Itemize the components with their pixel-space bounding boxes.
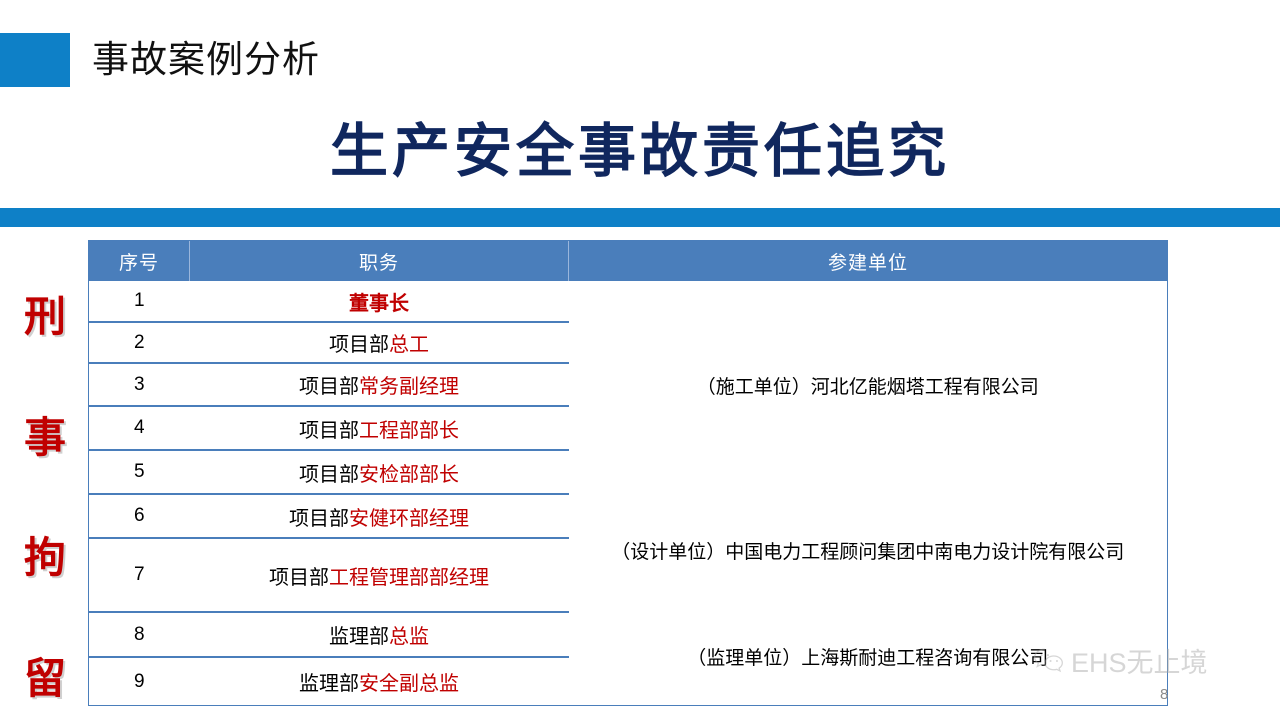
post-prefix: 项目部 bbox=[299, 464, 359, 486]
side-label-char-0: 刑 bbox=[24, 296, 66, 338]
post-prefix: 项目部 bbox=[299, 376, 359, 398]
column-header-no: 序号 bbox=[89, 241, 190, 281]
post-prefix: 监理部 bbox=[329, 626, 389, 648]
page-number: 8 bbox=[1160, 686, 1168, 703]
cell-no: 3 bbox=[89, 363, 190, 406]
post-highlight: 安检部部长 bbox=[359, 464, 459, 486]
side-label-criminal-detention: 刑 事 拘 留 bbox=[14, 296, 76, 700]
cell-post: 监理部总监 bbox=[190, 612, 569, 657]
table-row: 1 董事长 （施工单位）河北亿能烟塔工程有限公司 bbox=[89, 281, 1167, 322]
side-label-char-2: 拘 bbox=[24, 537, 66, 579]
cell-no: 8 bbox=[89, 612, 190, 657]
cell-post: 监理部安全副总监 bbox=[190, 657, 569, 705]
cell-unit-supervision: （监理单位）上海斯耐迪工程咨询有限公司 bbox=[569, 612, 1168, 705]
page-title: 生产安全事故责任追究 bbox=[0, 104, 1280, 188]
cell-post: 项目部总工 bbox=[190, 322, 569, 363]
post-highlight: 安健环部经理 bbox=[349, 508, 469, 530]
cell-no: 4 bbox=[89, 406, 190, 450]
cell-unit-design: （设计单位）中国电力工程顾问集团中南电力设计院有限公司 bbox=[569, 494, 1168, 612]
post-highlight: 常务副经理 bbox=[359, 376, 459, 398]
cell-unit-construction: （施工单位）河北亿能烟塔工程有限公司 bbox=[569, 281, 1168, 494]
responsibility-table: 序号 职务 参建单位 1 董事长 （施工单位）河北亿能烟塔工程有限公司 2 项目… bbox=[88, 240, 1168, 706]
header-accent-block bbox=[0, 33, 70, 87]
cell-post: 项目部工程部部长 bbox=[190, 406, 569, 450]
post-prefix: 项目部 bbox=[269, 567, 329, 589]
post-highlight: 安全副总监 bbox=[359, 673, 459, 695]
slide-header: 事故案例分析 bbox=[0, 32, 320, 88]
cell-post: 项目部常务副经理 bbox=[190, 363, 569, 406]
header-kicker: 事故案例分析 bbox=[92, 41, 320, 80]
cell-no: 6 bbox=[89, 494, 190, 538]
post-highlight: 工程管理部部经理 bbox=[329, 567, 489, 589]
post-highlight: 董事长 bbox=[349, 293, 409, 315]
slide-canvas: 事故案例分析 生产安全事故责任追究 刑 事 拘 留 序号 职务 参建单位 1 董… bbox=[0, 0, 1280, 720]
cell-no: 5 bbox=[89, 450, 190, 494]
cell-post: 项目部安检部部长 bbox=[190, 450, 569, 494]
post-prefix: 项目部 bbox=[299, 420, 359, 442]
side-label-char-1: 事 bbox=[24, 417, 66, 459]
column-header-post: 职务 bbox=[190, 241, 569, 281]
post-prefix: 项目部 bbox=[289, 508, 349, 530]
table-row: 8 监理部总监 （监理单位）上海斯耐迪工程咨询有限公司 bbox=[89, 612, 1167, 657]
cell-no: 9 bbox=[89, 657, 190, 705]
post-highlight: 总工 bbox=[389, 334, 429, 356]
table-row: 6 项目部安健环部经理 （设计单位）中国电力工程顾问集团中南电力设计院有限公司 bbox=[89, 494, 1167, 538]
post-prefix: 项目部 bbox=[329, 334, 389, 356]
table-header-row: 序号 职务 参建单位 bbox=[89, 241, 1167, 281]
cell-no: 1 bbox=[89, 281, 190, 322]
divider-band bbox=[0, 208, 1280, 227]
cell-no: 7 bbox=[89, 538, 190, 612]
column-header-unit: 参建单位 bbox=[569, 241, 1168, 281]
post-highlight: 总监 bbox=[389, 626, 429, 648]
cell-no: 2 bbox=[89, 322, 190, 363]
cell-post: 项目部安健环部经理 bbox=[190, 494, 569, 538]
post-highlight: 工程部部长 bbox=[359, 420, 459, 442]
post-prefix: 监理部 bbox=[299, 673, 359, 695]
cell-post: 项目部工程管理部部经理 bbox=[190, 538, 569, 612]
cell-post: 董事长 bbox=[190, 281, 569, 322]
side-label-char-3: 留 bbox=[24, 658, 66, 700]
